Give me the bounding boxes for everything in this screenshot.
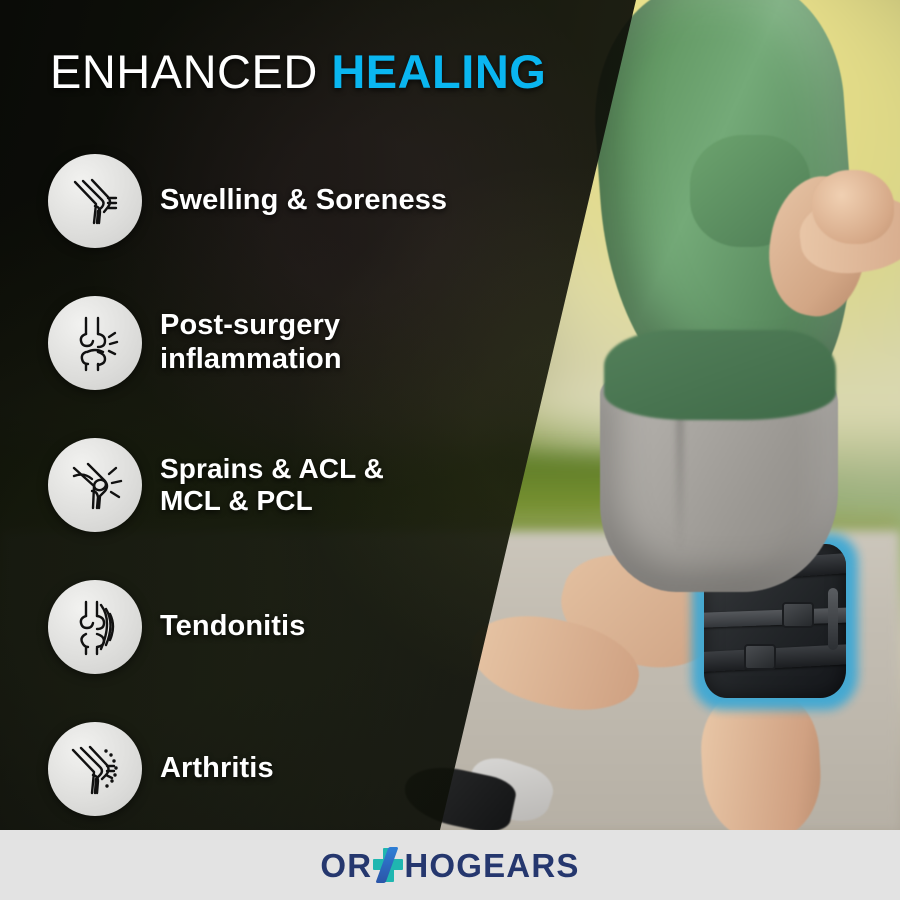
list-item: Tendonitis: [48, 556, 608, 698]
list-item-label: Arthritis: [160, 752, 274, 786]
list-item: Arthritis: [48, 698, 608, 840]
knee-swelling-icon: [48, 154, 142, 248]
headline-enhanced: ENHANCED: [50, 45, 331, 98]
brace-hinge: [828, 588, 838, 650]
promo-graphic: ENHANCED HEALING Swelling & Soreness: [0, 0, 900, 900]
tshirt-hem: [604, 330, 836, 420]
fist: [812, 170, 894, 244]
headline-healing: HEALING: [331, 45, 546, 98]
brace-buckle-bottom: [744, 644, 776, 670]
list-item: Post-surgery inflammation: [48, 272, 608, 414]
footer-bar: OR HOGEARS: [0, 830, 900, 900]
content-column: ENHANCED HEALING Swelling & Soreness: [0, 0, 636, 830]
list-item: Sprains & ACL & MCL & PCL: [48, 414, 608, 556]
list-item-label: Post-surgery inflammation: [160, 309, 342, 376]
list-item-label: Tendonitis: [160, 610, 305, 644]
knee-inflammation-icon: [48, 296, 142, 390]
knee-arthritis-icon: [48, 722, 142, 816]
page-title: ENHANCED HEALING: [50, 44, 546, 99]
knee-tendon-icon: [48, 580, 142, 674]
list-item: Swelling & Soreness: [48, 130, 608, 272]
knee-sprain-icon: [48, 438, 142, 532]
brand-text-right: HOGEARS: [404, 849, 579, 882]
list-item-label: Sprains & ACL & MCL & PCL: [160, 453, 384, 518]
list-item-label: Swelling & Soreness: [160, 184, 447, 218]
brand-text-left: OR: [320, 849, 372, 882]
benefits-list: Swelling & Soreness Post-s: [48, 130, 608, 840]
brace-buckle-mid: [782, 602, 814, 628]
brand-logo[interactable]: OR HOGEARS: [320, 848, 579, 882]
brace-strap-mid: [704, 607, 846, 628]
shorts-fold: [676, 402, 684, 552]
cross-plus-icon: [373, 848, 403, 882]
